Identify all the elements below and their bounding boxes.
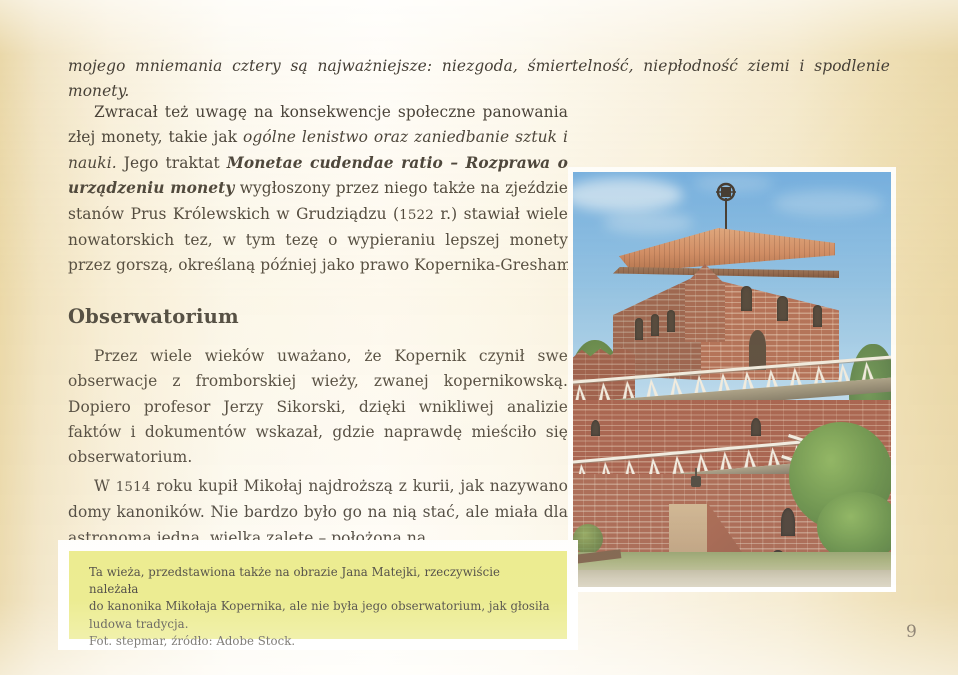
seg-w: W [94,477,116,495]
caption-line-3: ludowa tradycja. [89,616,551,633]
caption-line-4: Fot. stepmar, źródło: Adobe Stock. [89,633,551,650]
window-front-2 [777,296,788,321]
weathervane-icon [713,182,739,234]
caption-box-frame: Ta wieża, przedstawiona także na obrazie… [58,540,578,650]
caption-line-2: do kanonika Mikołaja Kopernika, ale nie … [89,598,551,615]
ground-path [573,570,891,587]
window-lower-arch [781,508,795,536]
seg-przez-wiele-wiekow: Przez wiele wieków uważano, że Kopernik … [68,347,568,467]
paragraph-quote-continuation: mojego mniemania cztery są najważniejsze… [68,54,890,105]
quote-text: mojego mniemania cztery są najważniejsze… [68,57,890,100]
seg-year-1514: 1514 [116,480,151,495]
seg-jego-traktat: Jego traktat [117,154,227,172]
cloud-2 [603,212,693,234]
caption-line-1: Ta wieża, przedstawiona także na obrazie… [89,564,551,598]
window-side-1 [635,318,643,340]
window-mid-1 [591,420,600,436]
window-side-2 [651,314,659,336]
seg-oldstyle-numeral: 1522 [399,208,434,223]
paragraph-przez-wiele-wiekow: Przez wiele wieków uważano, że Kopernik … [68,344,568,471]
tower-photograph [573,172,891,587]
document-page: mojego mniemania cztery są najważniejsze… [0,0,958,675]
window-front-1 [741,286,752,311]
cloud-3 [773,190,883,216]
photo-caption-box: Ta wieża, przedstawiona także na obrazie… [69,551,567,639]
window-side-3 [667,310,675,332]
window-front-arch [749,330,766,370]
lantern-icon [691,468,701,488]
page-number: 9 [906,622,917,642]
photo-frame [568,167,896,592]
window-mid-2 [751,418,761,436]
window-front-3 [813,305,822,327]
intro-text-block: mojego mniemania cztery są najważniejsze… [68,54,890,105]
